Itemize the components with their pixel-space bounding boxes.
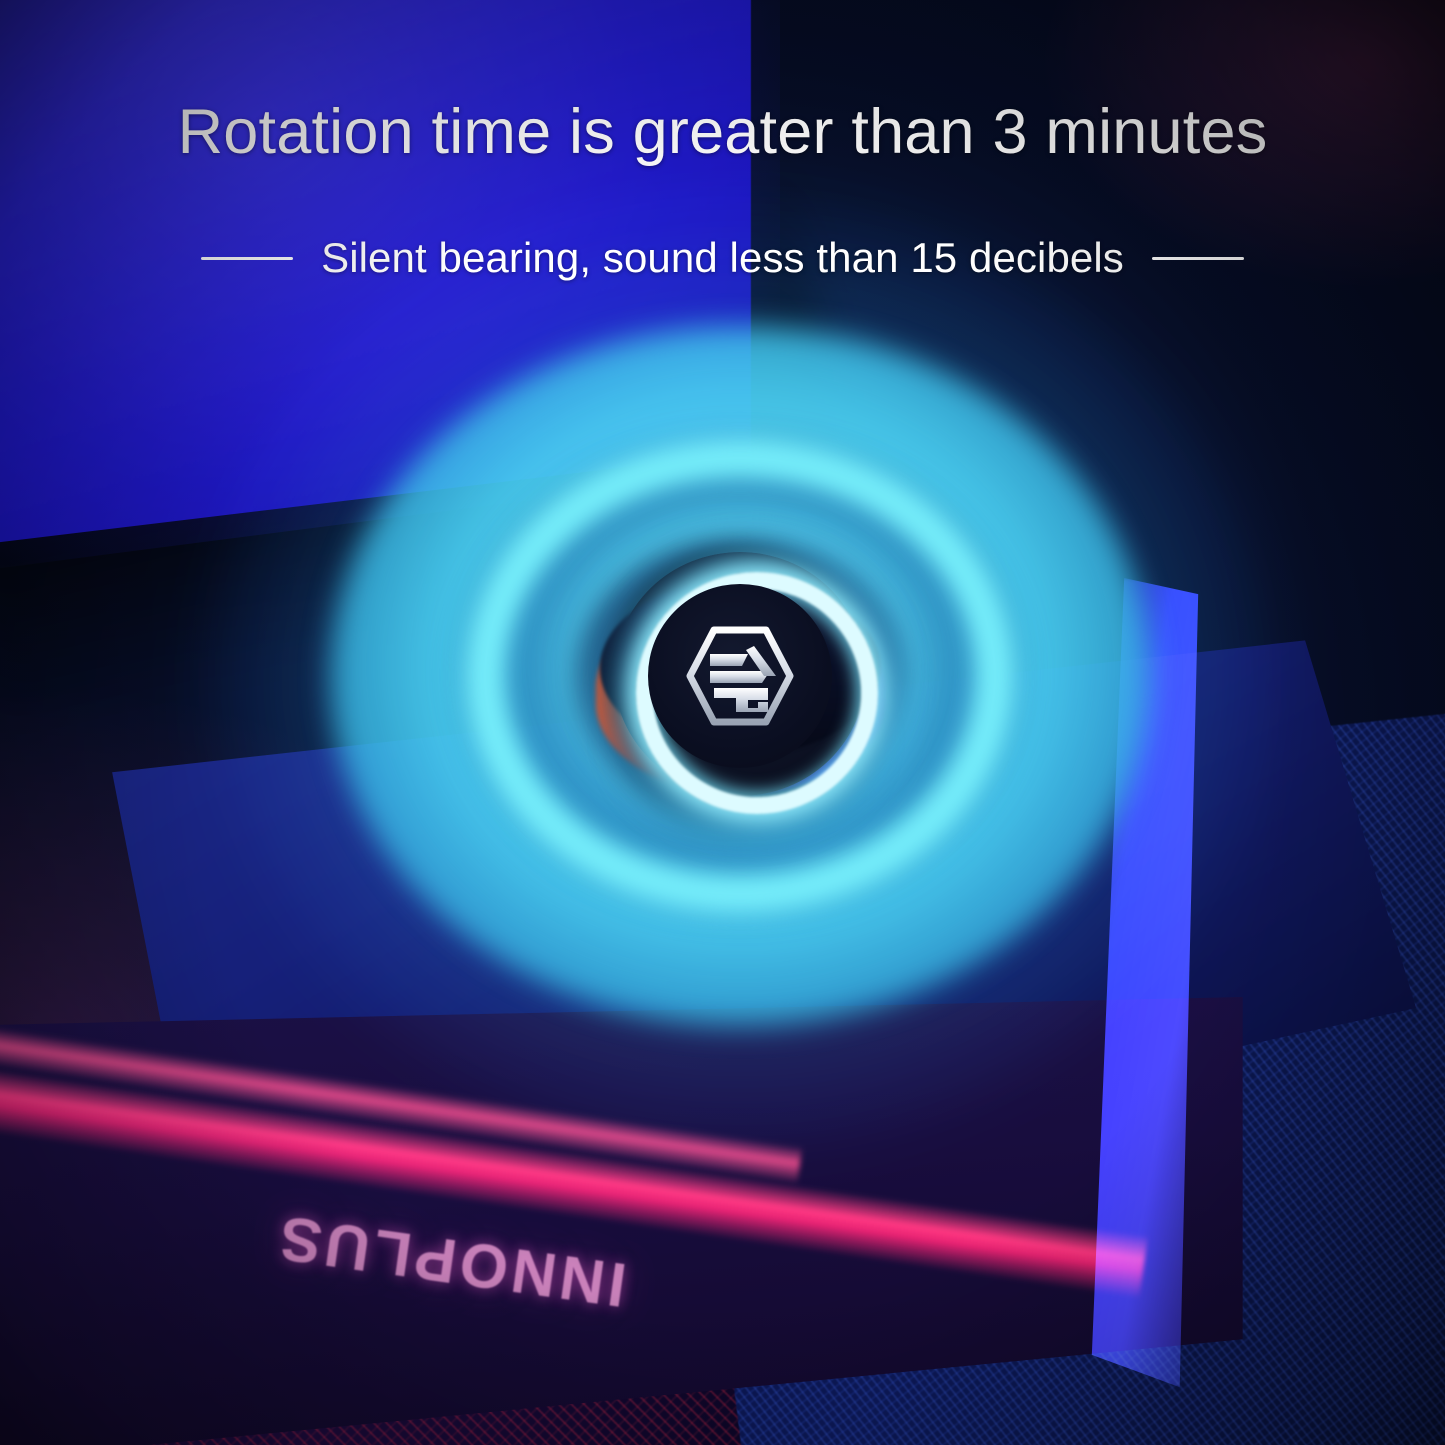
hexagon-monogram-logo-icon [684, 624, 796, 728]
subtitle-rule-right [1152, 257, 1244, 260]
product-feature-image: INNOPLUS [0, 0, 1445, 1445]
subtitle-rule-left [201, 257, 293, 260]
subtitle: Silent bearing, sound less than 15 decib… [321, 234, 1124, 282]
headline: Rotation time is greater than 3 minutes [0, 96, 1445, 168]
subtitle-row: Silent bearing, sound less than 15 decib… [0, 234, 1445, 282]
